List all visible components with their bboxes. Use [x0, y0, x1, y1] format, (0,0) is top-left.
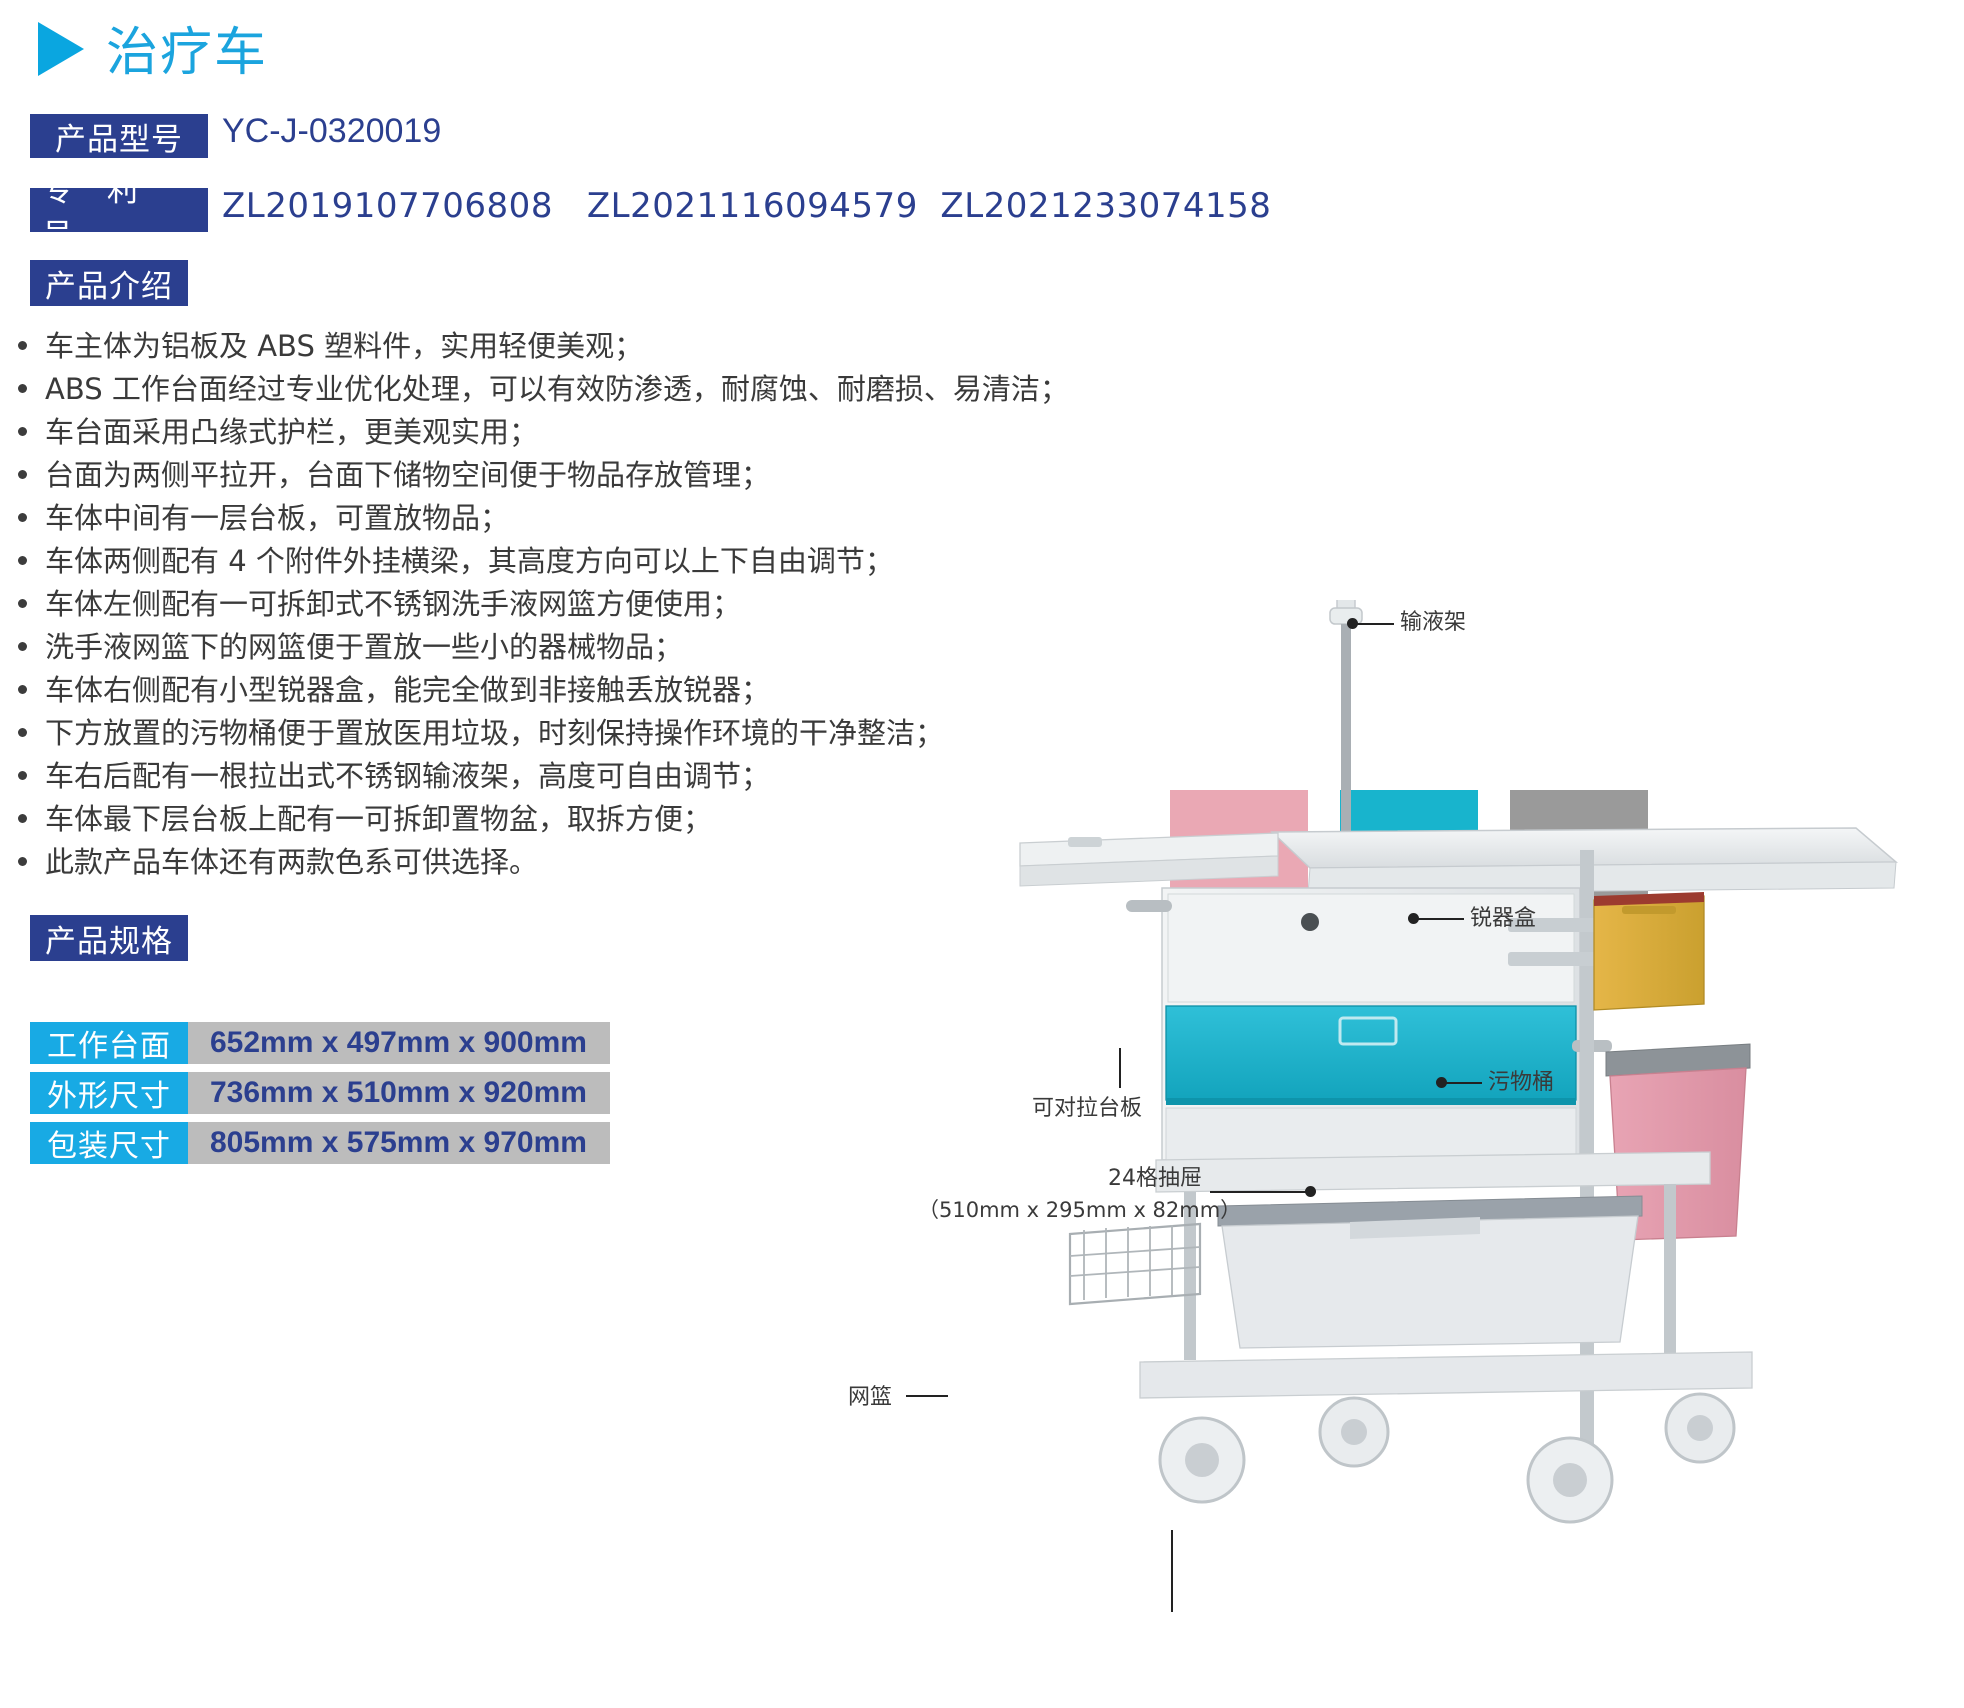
callout-line-tub — [1171, 1530, 1173, 1612]
spec-key: 包装尺寸 — [30, 1122, 188, 1164]
spec-table: 工作台面 652mm x 497mm x 900mm 外形尺寸 736mm x … — [30, 1022, 610, 1172]
bullet-icon — [18, 513, 27, 522]
callout-line-iv-pole — [1356, 623, 1394, 625]
sharps-box-graphic — [1594, 892, 1704, 1010]
list-item: 车体中间有一层台板，可置放物品； — [18, 497, 1018, 540]
bullet-icon — [18, 599, 27, 608]
bullet-icon — [18, 556, 27, 565]
spec-label-chip: 产品规格 — [30, 915, 188, 961]
feature-text: 车右后配有一根拉出式不锈钢输液架，高度可自由调节； — [45, 755, 770, 798]
spec-key: 外形尺寸 — [30, 1072, 188, 1114]
feature-text: ABS 工作台面经过专业优化处理，可以有效防渗透，耐腐蚀、耐磨损、易清洁； — [45, 368, 1069, 411]
feature-text: 台面为两侧平拉开，台面下储物空间便于物品存放管理； — [45, 454, 770, 497]
list-item: 车体最下层台板上配有一可拆卸置物盆，取拆方便； — [18, 798, 1018, 841]
callout-line-basket — [906, 1395, 948, 1397]
feature-list: 车主体为铝板及 ABS 塑料件，实用轻便美观； ABS 工作台面经过专业优化处理… — [18, 325, 1018, 884]
list-item: 车主体为铝板及 ABS 塑料件，实用轻便美观； — [18, 325, 1018, 368]
feature-text: 洗手液网篮下的网篮便于置放一些小的器械物品； — [45, 626, 683, 669]
bullet-icon — [18, 857, 27, 866]
bottom-shelf-graphic — [1140, 1352, 1752, 1398]
patent-label-chip: 专 利 号 — [30, 188, 208, 232]
list-item: 台面为两侧平拉开，台面下储物空间便于物品存放管理； — [18, 454, 1018, 497]
list-item: 车体左侧配有一可拆卸式不锈钢洗手液网篮方便使用； — [18, 583, 1018, 626]
feature-text: 车体右侧配有小型锐器盒，能完全做到非接触丢放锐器； — [45, 669, 770, 712]
feature-text: 车体中间有一层台板，可置放物品； — [45, 497, 509, 540]
bullet-icon — [18, 427, 27, 436]
callout-basket: 网篮 — [848, 1383, 892, 1413]
callout-waste-bin: 污物桶 — [1488, 1068, 1554, 1098]
callout-line-waste-bin — [1445, 1082, 1482, 1084]
bullet-icon — [18, 341, 27, 350]
model-label-chip: 产品型号 — [30, 114, 208, 158]
feature-text: 车体两侧配有 4 个附件外挂横梁，其高度方向可以上下自由调节； — [45, 540, 894, 583]
feature-text: 车主体为铝板及 ABS 塑料件，实用轻便美观； — [45, 325, 643, 368]
callout-drawer-title: 24格抽屉 — [1108, 1164, 1202, 1194]
list-item: 下方放置的污物桶便于置放医用垃圾，时刻保持操作环境的干净整洁； — [18, 712, 1018, 755]
list-item: 车体右侧配有小型锐器盒，能完全做到非接触丢放锐器； — [18, 669, 1018, 712]
list-item: 车体两侧配有 4 个附件外挂横梁，其高度方向可以上下自由调节； — [18, 540, 1018, 583]
bullet-icon — [18, 470, 27, 479]
bullet-icon — [18, 642, 27, 651]
page-title: 治疗车 — [106, 10, 268, 85]
feature-text: 车台面采用凸缘式护栏，更美观实用； — [45, 411, 538, 454]
bullet-icon — [18, 384, 27, 393]
callout-dot-drawer — [1305, 1186, 1316, 1197]
intro-label-chip: 产品介绍 — [30, 260, 188, 306]
feature-text: 此款产品车体还有两款色系可供选择。 — [45, 841, 538, 884]
callout-sharps-box: 锐器盒 — [1470, 904, 1536, 934]
feature-text: 下方放置的污物桶便于置放医用垃圾，时刻保持操作环境的干净整洁； — [45, 712, 944, 755]
spec-value: 652mm x 497mm x 900mm — [188, 1022, 610, 1064]
wire-basket-graphic — [1070, 1224, 1200, 1304]
table-row: 外形尺寸 736mm x 510mm x 920mm — [30, 1072, 610, 1114]
spec-value: 736mm x 510mm x 920mm — [188, 1072, 610, 1114]
callout-line-drawer — [1210, 1191, 1308, 1193]
bullet-icon — [18, 728, 27, 737]
patent-value: ZL2019107706808 ZL2021116094579 ZL202123… — [222, 186, 1271, 226]
callout-line-pull-board — [1119, 1048, 1121, 1088]
feature-text: 车体最下层台板上配有一可拆卸置物盆，取拆方便； — [45, 798, 712, 841]
callout-drawer-dims: （510mm x 295mm x 82mm） — [918, 1195, 1241, 1225]
list-item: 此款产品车体还有两款色系可供选择。 — [18, 841, 1018, 884]
table-row: 包装尺寸 805mm x 575mm x 970mm — [30, 1122, 610, 1164]
storage-tub-graphic — [1218, 1196, 1642, 1348]
list-item: 车右后配有一根拉出式不锈钢输液架，高度可自由调节； — [18, 755, 1018, 798]
pull-out-board-graphic — [1020, 833, 1278, 886]
table-row: 工作台面 652mm x 497mm x 900mm — [30, 1022, 610, 1064]
bullet-icon — [18, 814, 27, 823]
callout-iv-pole: 输液架 — [1400, 608, 1466, 638]
spec-key: 工作台面 — [30, 1022, 188, 1064]
list-item: 车台面采用凸缘式护栏，更美观实用； — [18, 411, 1018, 454]
product-catalog-page: 治疗车 产品型号 YC-J-0320019 专 利 号 ZL2019107706… — [0, 0, 1964, 1708]
spec-value: 805mm x 575mm x 970mm — [188, 1122, 610, 1164]
play-triangle-icon — [38, 22, 84, 76]
medical-cart-illustration — [1010, 600, 1960, 1708]
page-header: 治疗车 — [38, 10, 268, 85]
caster-wheels-graphic — [1160, 1394, 1734, 1522]
list-item: 洗手液网篮下的网篮便于置放一些小的器械物品； — [18, 626, 1018, 669]
bullet-icon — [18, 685, 27, 694]
callout-line-sharps-box — [1417, 918, 1464, 920]
bullet-icon — [18, 771, 27, 780]
feature-text: 车体左侧配有一可拆卸式不锈钢洗手液网篮方便使用； — [45, 583, 741, 626]
product-photo — [1010, 600, 1960, 1708]
model-value: YC-J-0320019 — [222, 112, 441, 151]
list-item: ABS 工作台面经过专业优化处理，可以有效防渗透，耐腐蚀、耐磨损、易清洁； — [18, 368, 1018, 411]
callout-pull-board: 可对拉台板 — [1032, 1094, 1142, 1124]
iv-pole-graphic — [1284, 600, 1407, 842]
